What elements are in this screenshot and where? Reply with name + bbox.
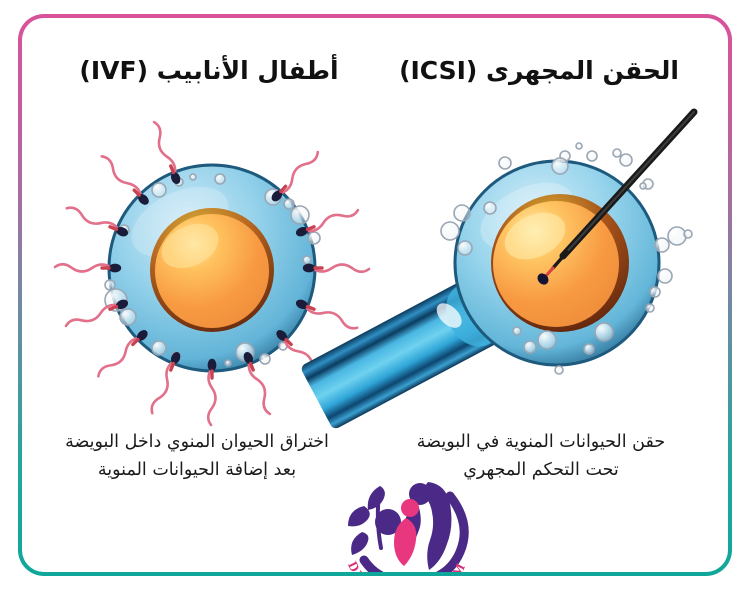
logo-baby-figure bbox=[394, 499, 419, 566]
gradient-frame: الحقن المجهرى (ICSI) أطفال الأنابيب (IVF… bbox=[18, 14, 732, 576]
dr-ayman-negm-logo: DR. AYMAN NEGM bbox=[332, 456, 482, 572]
infographic-canvas: الحقن المجهرى (ICSI) أطفال الأنابيب (IVF… bbox=[22, 18, 728, 572]
panel-title-ivf: أطفال الأنابيب (IVF) bbox=[44, 56, 374, 85]
panel-title-icsi: الحقن المجهرى (ICSI) bbox=[374, 56, 704, 85]
icsi-illustration bbox=[367, 108, 712, 426]
panel-caption-ivf: اختراق الحيوان المنوي داخل البويضة بعد إ… bbox=[36, 428, 358, 484]
